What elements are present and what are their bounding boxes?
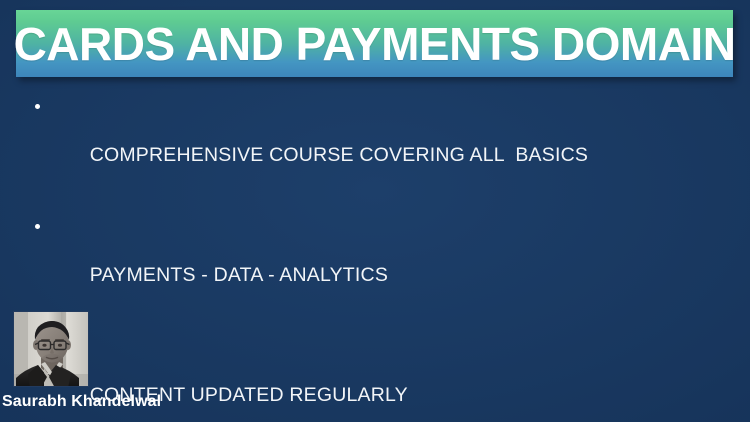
bullet-list: COMPREHENSIVE COURSE COVERING ALL BASICS… [30,95,742,422]
list-item: COMPREHENSIVE COURSE COVERING ALL BASICS [30,95,742,191]
presentation-slide: CARDS AND PAYMENTS DOMAIN COMPREHENSIVE … [0,0,750,422]
list-item-label: PAYMENTS - DATA - ANALYTICS [90,264,388,286]
portrait-image [14,312,89,387]
list-item: PAYMENTS - DATA - ANALYTICS [30,215,742,311]
bullet-dot-icon [35,104,40,109]
presenter-photo [13,311,89,387]
list-item-label: COMPREHENSIVE COURSE COVERING ALL BASICS [90,144,588,166]
slide-title-banner: CARDS AND PAYMENTS DOMAIN [16,10,733,77]
bullet-dot-icon [35,224,40,229]
page-title: CARDS AND PAYMENTS DOMAIN [14,21,736,67]
presenter-name: Saurabh Khandelwal [2,392,161,412]
